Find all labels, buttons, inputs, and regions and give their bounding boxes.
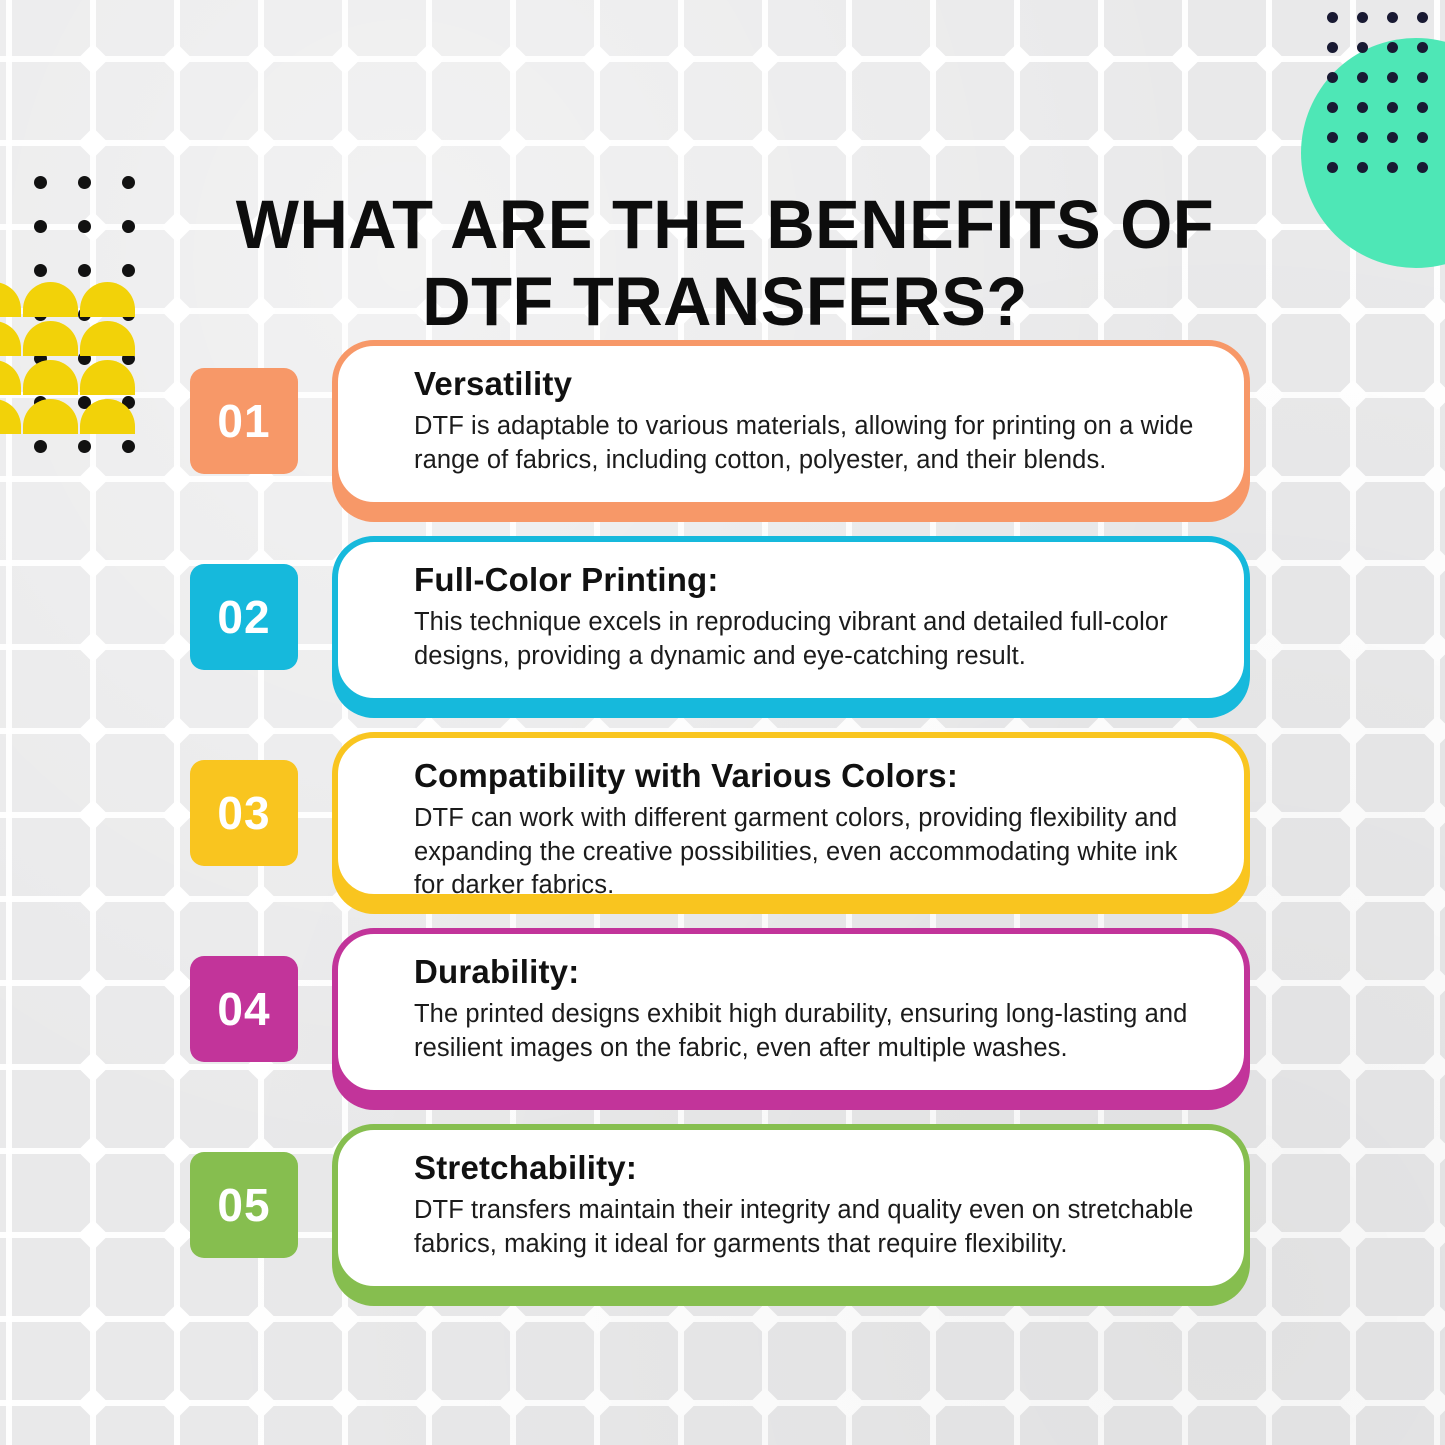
benefit-row: 04Durability:The printed designs exhibit… (0, 928, 1445, 1124)
decorative-dot (1347, 2, 1377, 32)
arch-shape (23, 282, 78, 317)
decorative-dot (1407, 2, 1437, 32)
decorative-dot (1317, 32, 1347, 62)
card-body: Compatibility with Various Colors:DTF ca… (332, 732, 1250, 900)
decorative-dot (1407, 152, 1437, 182)
decorative-dot (1317, 62, 1347, 92)
decorative-dot (1317, 152, 1347, 182)
card-body: Durability:The printed designs exhibit h… (332, 928, 1250, 1096)
card-heading: Compatibility with Various Colors: (414, 756, 1210, 796)
decorative-dot (1347, 152, 1377, 182)
decorative-dot (1407, 92, 1437, 122)
decorative-dot (1347, 122, 1377, 152)
benefit-number-badge: 01 (190, 368, 298, 474)
decorative-dot (1347, 62, 1377, 92)
benefit-row: 05Stretchability:DTF transfers maintain … (0, 1124, 1445, 1320)
decorative-dot (62, 204, 106, 248)
decorative-dot (1377, 92, 1407, 122)
benefit-card: Compatibility with Various Colors:DTF ca… (332, 732, 1250, 900)
card-body-text: This technique excels in reproducing vib… (414, 606, 1210, 674)
decorative-dot (1377, 2, 1407, 32)
benefit-number-badge: 03 (190, 760, 298, 866)
benefits-list: 01VersatilityDTF is adaptable to various… (0, 340, 1445, 1320)
card-body-text: DTF is adaptable to various materials, a… (414, 410, 1210, 478)
arch-shape (80, 282, 135, 317)
benefit-row: 01VersatilityDTF is adaptable to various… (0, 340, 1445, 536)
benefit-row: 02Full-Color Printing:This technique exc… (0, 536, 1445, 732)
card-heading: Durability: (414, 952, 1210, 992)
infographic-poster: WHAT ARE THE BENEFITS OF DTF TRANSFERS? … (0, 0, 1445, 1445)
card-heading: Full-Color Printing: (414, 560, 1210, 600)
dot-grid-top-right-decoration (1317, 2, 1437, 182)
card-heading: Stretchability: (414, 1148, 1210, 1188)
decorative-dot (1347, 32, 1377, 62)
decorative-dot (18, 160, 62, 204)
decorative-dot (106, 204, 150, 248)
decorative-dot (1407, 62, 1437, 92)
card-body-text: DTF transfers maintain their integrity a… (414, 1194, 1210, 1262)
benefit-number-badge: 02 (190, 564, 298, 670)
decorative-dot (18, 204, 62, 248)
decorative-dot (1377, 152, 1407, 182)
decorative-dot (106, 160, 150, 204)
card-heading: Versatility (414, 364, 1210, 404)
card-body-text: The printed designs exhibit high durabil… (414, 998, 1210, 1066)
card-body-text: DTF can work with different garment colo… (414, 802, 1210, 904)
card-body: VersatilityDTF is adaptable to various m… (332, 340, 1250, 508)
benefit-number-badge: 04 (190, 956, 298, 1062)
benefit-row: 03Compatibility with Various Colors:DTF … (0, 732, 1445, 928)
decorative-dot (1347, 92, 1377, 122)
card-body: Full-Color Printing:This technique excel… (332, 536, 1250, 704)
page-title: WHAT ARE THE BENEFITS OF DTF TRANSFERS? (206, 186, 1244, 341)
benefit-card: Stretchability:DTF transfers maintain th… (332, 1124, 1250, 1292)
decorative-dot (1317, 92, 1347, 122)
decorative-dot (1377, 32, 1407, 62)
benefit-card: Full-Color Printing:This technique excel… (332, 536, 1250, 704)
decorative-dot (1407, 122, 1437, 152)
benefit-card: VersatilityDTF is adaptable to various m… (332, 340, 1250, 508)
decorative-dot (1377, 122, 1407, 152)
benefit-card: Durability:The printed designs exhibit h… (332, 928, 1250, 1096)
decorative-dot (1317, 122, 1347, 152)
decorative-dot (62, 160, 106, 204)
decorative-dot (1377, 62, 1407, 92)
decorative-dot (1407, 32, 1437, 62)
card-body: Stretchability:DTF transfers maintain th… (332, 1124, 1250, 1292)
decorative-dot (1317, 2, 1347, 32)
arch-shape (0, 282, 21, 317)
benefit-number-badge: 05 (190, 1152, 298, 1258)
